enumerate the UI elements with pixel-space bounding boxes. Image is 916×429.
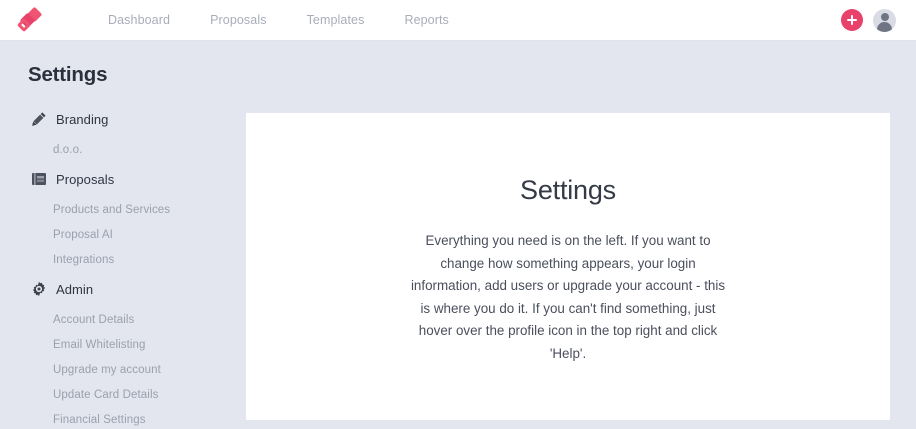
nav-link-proposals[interactable]: Proposals [190,13,287,27]
sidebar-item-products-and-services[interactable]: Products and Services [0,200,246,219]
diamond-logo-icon[interactable] [18,0,52,41]
user-avatar-icon[interactable] [873,9,896,32]
sidebar-section-label: Admin [56,282,93,297]
main-content-card: Settings Everything you need is on the l… [246,113,890,420]
sidebar-section-label: Branding [56,112,108,127]
nav-link-dashboard[interactable]: Dashboard [88,13,190,27]
pencil-icon [30,111,47,128]
sidebar-section-branding[interactable]: Branding [0,108,246,130]
sidebar-section-admin[interactable]: Admin [0,278,246,300]
top-bar-actions [841,9,896,32]
nav-link-templates[interactable]: Templates [287,13,385,27]
sidebar-item-proposal-ai[interactable]: Proposal AI [0,225,246,244]
page-title: Settings [28,63,107,87]
content-heading: Settings [246,175,890,206]
content-description: Everything you need is on the left. If y… [409,230,727,366]
sidebar-item-doo[interactable]: d.o.o. [0,140,246,159]
gear-icon [30,281,47,298]
sidebar-item-account-details[interactable]: Account Details [0,310,246,329]
sidebar-section-label: Proposals [56,172,114,187]
main-nav: Dashboard Proposals Templates Reports [88,13,469,27]
settings-sidebar: Branding d.o.o. Proposals Products and S… [0,108,246,420]
sidebar-item-integrations[interactable]: Integrations [0,250,246,269]
sidebar-item-upgrade-my-account[interactable]: Upgrade my account [0,360,246,379]
book-icon [30,171,47,188]
plus-circle-icon[interactable] [841,9,863,31]
top-navigation-bar: Dashboard Proposals Templates Reports [0,0,916,41]
nav-link-reports[interactable]: Reports [384,13,468,27]
sidebar-item-email-whitelisting[interactable]: Email Whitelisting [0,335,246,354]
sidebar-section-proposals[interactable]: Proposals [0,168,246,190]
sidebar-item-update-card-details[interactable]: Update Card Details [0,385,246,404]
